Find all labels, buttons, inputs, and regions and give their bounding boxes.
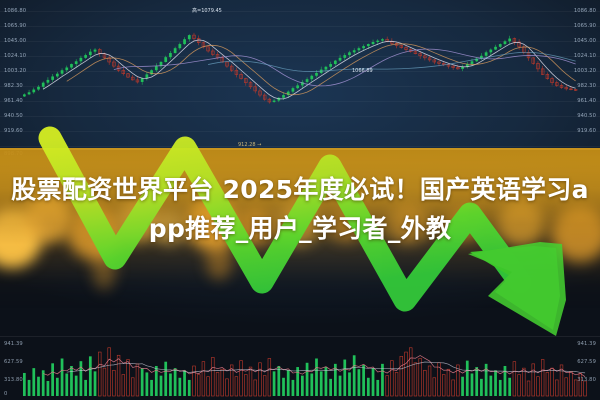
volume-ytick-right: 313.80: [577, 377, 596, 383]
volume-ytick-left: 0: [4, 391, 7, 397]
volume-ytick-left: 941.39: [4, 341, 23, 347]
volume-ytick-right: 941.39: [577, 341, 596, 347]
screenshot-root: 1086.80 1065.90 1045.00 1024.10 1003.20 …: [0, 0, 600, 400]
volume-chart: [0, 0, 600, 400]
volume-ytick-right: 627.59: [577, 359, 596, 365]
volume-ytick-left: 627.59: [4, 359, 23, 365]
volume-ytick-left: 313.80: [4, 377, 23, 383]
